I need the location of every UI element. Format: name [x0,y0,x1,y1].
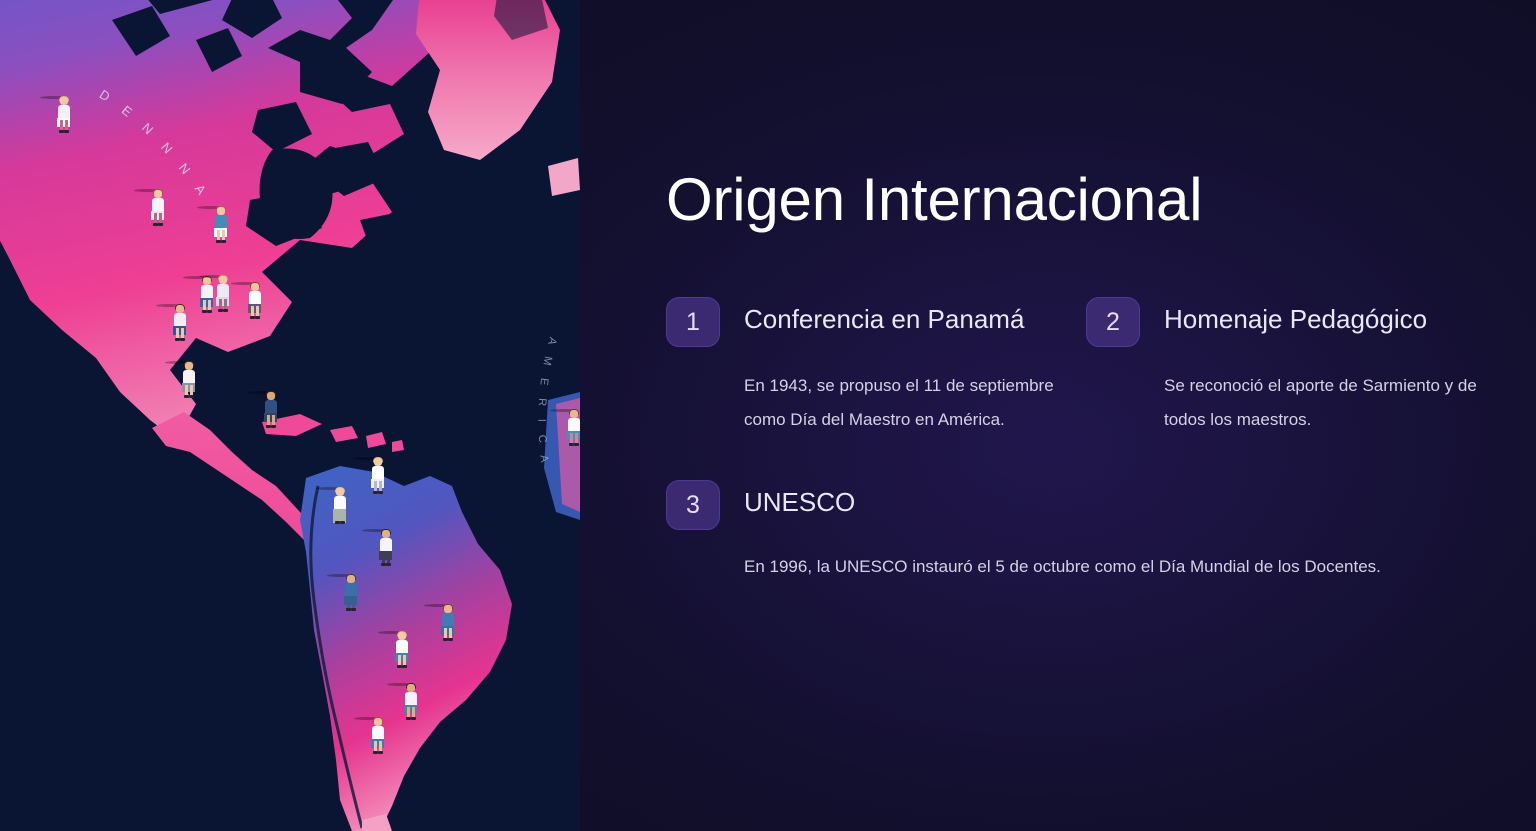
card-2-body: Se reconoció el aporte de Sarmiento y de… [1164,369,1506,436]
card-3-title: UNESCO [744,480,855,522]
card-1-title: Conferencia en Panamá [744,297,1024,339]
card-3-number-badge: 3 [666,480,720,530]
cards-grid: 1 Conferencia en Panamá En 1943, se prop… [666,297,1536,584]
card-3-header: 3 UNESCO [666,480,1486,530]
page-title: Origen Internacional [666,168,1536,231]
card-1-number-badge: 1 [666,297,720,347]
card-1-body: En 1943, se propuso el 11 de septiembre … [744,369,1086,436]
info-card-1: 1 Conferencia en Panamá En 1943, se prop… [666,297,1086,436]
card-3-body: En 1996, la UNESCO instauró el 5 de octu… [744,550,1486,584]
info-card-3: 3 UNESCO En 1996, la UNESCO instauró el … [666,480,1486,584]
content-panel: Origen Internacional 1 Conferencia en Pa… [580,0,1536,831]
info-card-2: 2 Homenaje Pedagógico Se reconoció el ap… [1086,297,1506,436]
card-2-number-badge: 2 [1086,297,1140,347]
card-1-header: 1 Conferencia en Panamá [666,297,1086,347]
americas-map-illustration: D E N N N A A M E R I C A [0,0,580,831]
card-2-header: 2 Homenaje Pedagógico [1086,297,1506,347]
map-panel: D E N N N A A M E R I C A [0,0,580,831]
content-inner: Origen Internacional 1 Conferencia en Pa… [580,0,1536,584]
card-2-title: Homenaje Pedagógico [1164,297,1427,339]
slide-root: D E N N N A A M E R I C A [0,0,1536,831]
